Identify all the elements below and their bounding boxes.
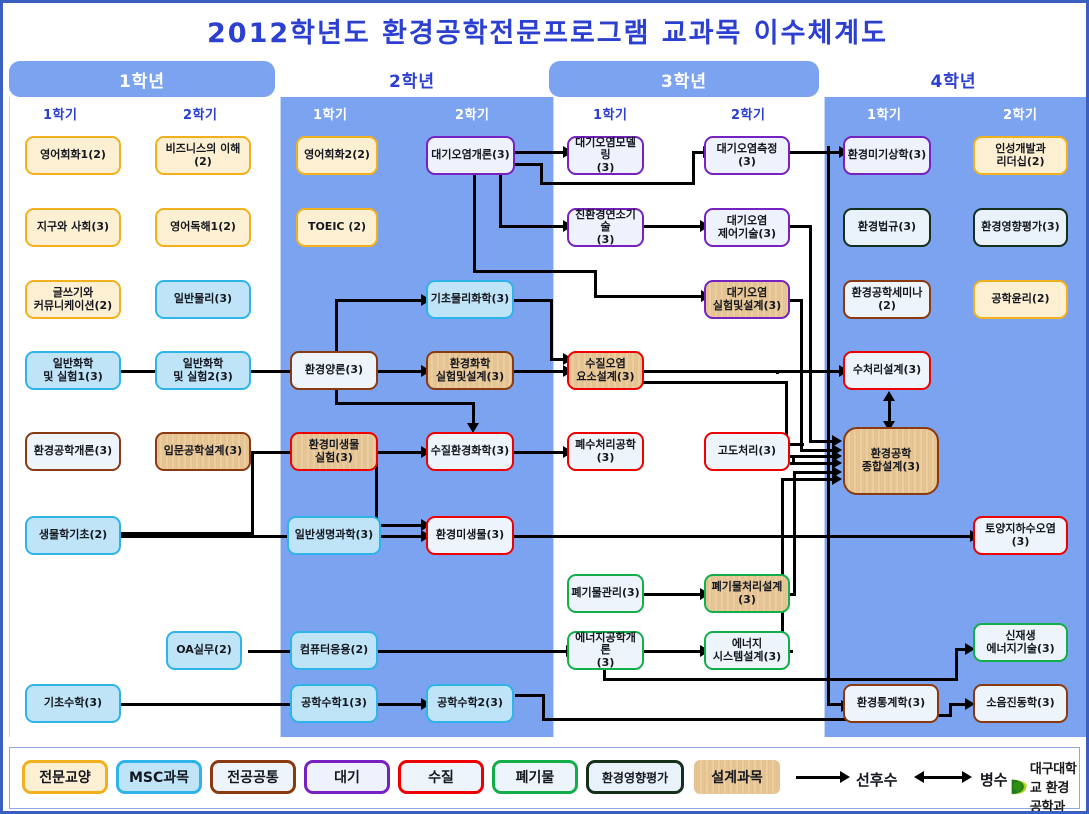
legend-item-waste: 폐기물 [492, 760, 578, 794]
course-box[interactable]: 대기오염제어기술(3) [704, 208, 790, 247]
course-box[interactable]: 소음진동학(3) [973, 684, 1068, 723]
course-box[interactable]: 영어회화2(2) [296, 136, 378, 175]
course-box[interactable]: 환경영향평가(3) [973, 208, 1068, 247]
course-box[interactable]: 일반물리(3) [155, 280, 251, 319]
course-box[interactable]: 환경양론(3) [290, 351, 378, 390]
course-box[interactable]: 글쓰기와커뮤니케이션(2) [25, 280, 121, 319]
leaf-logo-icon [1010, 767, 1028, 807]
course-box[interactable]: 환경공학개론(3) [25, 432, 121, 471]
course-box[interactable]: 환경통계학(3) [843, 684, 939, 723]
course-box[interactable]: 수처리설계(3) [843, 351, 931, 390]
course-box[interactable]: 환경미기상학(3) [843, 136, 931, 175]
curriculum-flowchart-page: 2012학년도 환경공학전문프로그램 교과목 이수체계도 1학년 2학년 3학년… [0, 0, 1089, 814]
semester-label-y1s2: 2학기 [183, 104, 217, 123]
course-box[interactable]: 컴퓨터응용(2) [290, 631, 378, 670]
legend-item-msc: MSC과목 [116, 760, 202, 794]
logo-text: 대구대학교 환경공학과 [1030, 758, 1079, 814]
course-box[interactable]: 폐기물관리(3) [567, 574, 644, 613]
course-box[interactable]: 인성개발과리더십(2) [973, 136, 1068, 175]
course-box[interactable]: 환경미생물(3) [426, 516, 514, 555]
page-title: 2012학년도 환경공학전문프로그램 교과목 이수체계도 [3, 11, 1089, 50]
legend-item-common: 전공공통 [210, 760, 296, 794]
semester-label-y3s1: 1학기 [593, 104, 627, 123]
course-box[interactable]: 영어회화1(2) [25, 136, 121, 175]
course-box[interactable]: 환경법규(3) [843, 208, 931, 247]
course-box[interactable]: 고도처리(3) [704, 432, 790, 471]
legend-item-air: 대기 [304, 760, 390, 794]
course-box[interactable]: 에너지시스템설계(3) [704, 631, 790, 670]
course-box[interactable]: 일반화학및 실험2(3) [155, 351, 251, 390]
course-box[interactable]: 입문공학설계(3) [155, 432, 251, 471]
course-box[interactable]: 공학윤리(2) [973, 280, 1068, 319]
course-box[interactable]: 생물학기초(2) [25, 516, 121, 555]
course-box[interactable]: 폐수처리공학(3) [567, 432, 644, 471]
course-box[interactable]: 대기오염측정(3) [704, 136, 790, 175]
legend-coreq-label: 병수 [980, 769, 1008, 790]
year-header-3: 3학년 [549, 61, 819, 97]
course-box[interactable]: OA실무(2) [166, 631, 242, 670]
course-box[interactable]: 대기오염개론(3) [426, 136, 515, 175]
course-box[interactable]: 수질오염요소설계(3) [567, 351, 644, 390]
course-box[interactable]: 환경공학종합설계(3) [843, 427, 939, 495]
semester-label-y2s2: 2학기 [455, 104, 489, 123]
legend-prereq-label: 선후수 [856, 769, 897, 790]
course-box[interactable]: 수질환경화학(3) [426, 432, 514, 471]
course-box[interactable]: 공학수학2(3) [426, 684, 514, 723]
course-box[interactable]: 공학수학1(3) [290, 684, 378, 723]
course-box[interactable]: 환경화학실험및설계(3) [426, 351, 514, 390]
department-logo: 대구대학교 환경공학과 [1010, 758, 1079, 814]
course-box[interactable]: 폐기물처리설계(3) [704, 574, 790, 613]
legend-item-gyoyang: 전문교양 [22, 760, 108, 794]
course-box[interactable]: 지구와 사회(3) [25, 208, 121, 247]
course-box[interactable]: 비즈니스의 이해(2) [155, 136, 251, 175]
semester-label-y2s1: 1학기 [313, 104, 347, 123]
semester-label-y4s2: 2학기 [1003, 104, 1037, 123]
legend-item-eia: 환경영향평가 [586, 760, 684, 794]
course-box[interactable]: 환경미생물실험(3) [290, 432, 378, 471]
course-box[interactable]: 환경공학세미나(2) [843, 280, 931, 319]
course-box[interactable]: 대기오염실험및설계(3) [704, 280, 790, 319]
year-header-1: 1학년 [9, 61, 275, 97]
year-header-4: 4학년 [821, 61, 1086, 97]
course-box[interactable]: 대기오염모델링(3) [567, 136, 644, 175]
legend-item-water: 수질 [398, 760, 484, 794]
course-box[interactable]: 토양지하수오염(3) [973, 516, 1068, 555]
course-box[interactable]: TOEIC (2) [296, 208, 378, 247]
course-box[interactable]: 영어독해1(2) [155, 208, 251, 247]
course-box[interactable]: 에너지공학개론(3) [567, 631, 644, 670]
semester-label-y3s2: 2학기 [731, 104, 765, 123]
course-box[interactable]: 기초물리화학(3) [426, 280, 514, 319]
course-box[interactable]: 기초수학(3) [25, 684, 121, 723]
course-box[interactable]: 일반생명과학(3) [287, 516, 381, 555]
course-box[interactable]: 일반화학및 실험1(3) [25, 351, 121, 390]
course-box[interactable]: 신재생에너지기술(3) [973, 623, 1068, 662]
course-box[interactable]: 친환경연소기술(3) [567, 208, 644, 247]
semester-label-y4s1: 1학기 [867, 104, 901, 123]
year-header-2: 2학년 [277, 61, 547, 97]
legend-item-design: 설계과목 [694, 760, 780, 794]
legend: 전문교양 MSC과목 전공공통 대기 수질 폐기물 환경영향평가 설계과목 선후… [9, 747, 1080, 809]
semester-label-y1s1: 1학기 [43, 104, 77, 123]
